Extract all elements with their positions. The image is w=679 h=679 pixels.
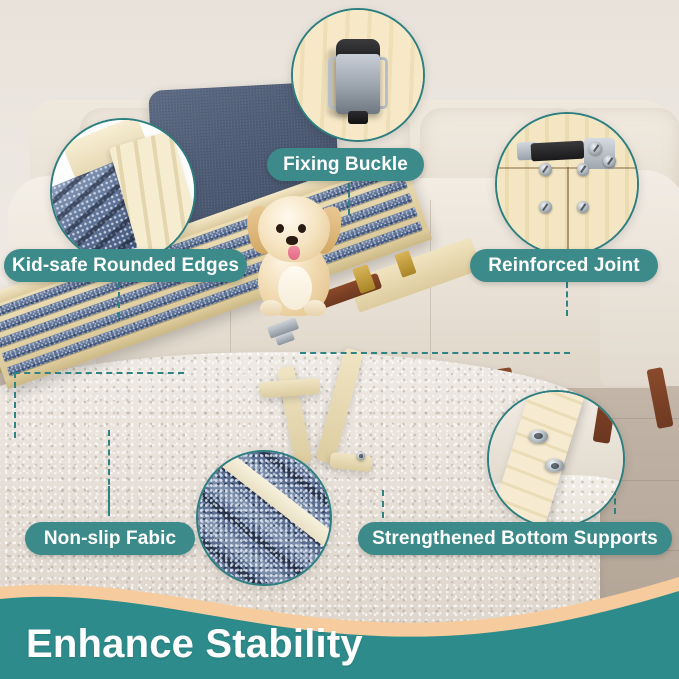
ramp-foot-pad [329, 452, 372, 472]
dog-nose [286, 236, 298, 245]
dash-edge-top [14, 372, 184, 374]
screw-icon [603, 155, 616, 168]
banner-title: Enhance Stability [26, 622, 363, 667]
bolt-icon [529, 430, 548, 443]
feature-label-non-slip-fabic[interactable]: Non-slip Fabic [25, 522, 195, 555]
screw-icon [539, 163, 552, 176]
dog-paw [304, 300, 326, 316]
dog-eye [276, 224, 284, 233]
product-infographic: Kid-safe Rounded Edges Fixing Buckle Rei… [0, 0, 679, 679]
dog-on-ramp [238, 196, 348, 318]
dash-support-stem [382, 490, 384, 518]
dash-buckle-stem [348, 183, 350, 215]
screw-icon [577, 163, 590, 176]
inset-toggle-latch-closeup [291, 8, 425, 142]
bottom-banner: Enhance Stability [0, 569, 679, 679]
ramp-foot-brace [260, 378, 321, 398]
screw-icon [539, 201, 552, 214]
inset-joint-hardware-closeup [495, 112, 639, 256]
feature-label-reinforced-joint[interactable]: Reinforced Joint [470, 249, 658, 282]
inset-carpet-texture-closeup [196, 450, 332, 586]
dog-tongue [288, 246, 300, 260]
dash-edge-left [14, 372, 16, 438]
dog-paw [260, 300, 282, 316]
screw-icon [589, 142, 602, 155]
ramp-support-leg [315, 348, 363, 465]
feature-label-strengthened-bottom-supports[interactable]: Strengthened Bottom Supports [358, 522, 672, 555]
dog-eye [298, 224, 306, 233]
inset-rounded-edge-closeup [50, 118, 196, 264]
dash-kidsafe-stem [118, 282, 120, 318]
inset-support-leg-closeup [487, 390, 625, 528]
dash-fabric-stem [108, 486, 110, 516]
dash-joint-lead [300, 352, 570, 354]
dash-joint-stem [566, 282, 568, 316]
feature-label-fixing-buckle[interactable]: Fixing Buckle [267, 148, 424, 181]
feature-label-kid-safe-rounded-edges[interactable]: Kid-safe Rounded Edges [4, 249, 247, 282]
